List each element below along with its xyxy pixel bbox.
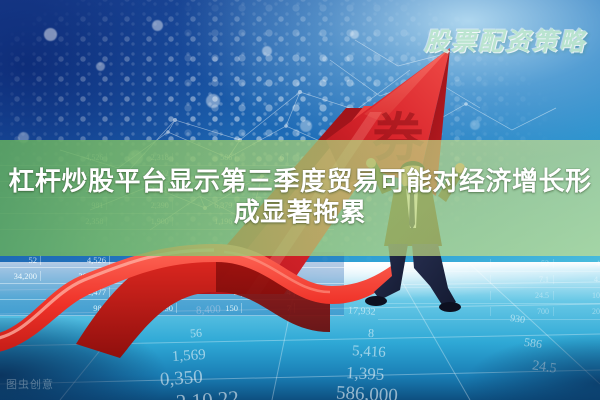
headline-text-group: 杠杆炒股平台显示第三季度贸易可能对经济增长形 成显著拖累 [0,140,600,256]
floor-number: 1,395 [346,363,385,385]
headline-line-2: 成显著拖累 [234,200,367,227]
table-cell: 202 [553,307,600,316]
table-cell: 52 [490,259,553,268]
table-cell: 24.5 [490,291,553,300]
headline-line-1: 杠杆炒股平台显示第三季度贸易可能对经济增长形 [8,169,591,196]
table-cell: 4.1 [553,275,600,284]
table-cell: 101 [553,291,600,300]
right-shoe [439,302,461,312]
table-cell: 7.1 [490,275,553,284]
red-wave-ribbon [0,240,400,360]
table-cell: 41 [553,259,600,268]
left-shoe [365,296,387,306]
watermark-bottom-left: 图虫创意 [6,376,54,392]
floor-shadow-right [400,330,600,400]
floor-number: 586,000 [335,382,398,400]
table-cell: 700 [490,307,553,316]
watermark-top-right: 股票配资策略 [424,22,586,58]
image-canvas: 4,526 2,318 586 6 52 392,000 17,932 586 … [0,0,600,400]
